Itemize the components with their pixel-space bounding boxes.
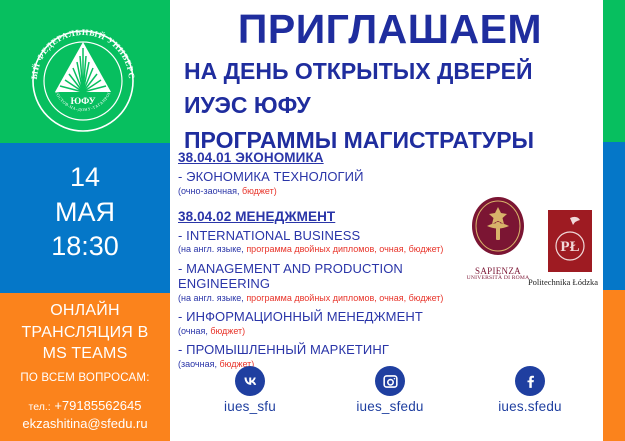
program-note-format: (на англ. языке,: [178, 244, 246, 254]
program-title: - ПРОМЫШЛЕННЫЙ МАРКЕТИНГ: [178, 342, 478, 358]
headline-line2: НА ДЕНЬ ОТКРЫТЫХ ДВЕРЕЙ: [178, 58, 598, 85]
program-note: (на англ. языке, программа двойных дипло…: [178, 244, 478, 255]
poster-canvas: ЮФУ ЮЖНЫЙ ФЕДЕРАЛЬНЫЙ УНИВЕРСИТЕТ РОСТОВ…: [0, 0, 625, 441]
program-note-funding: бюджет): [210, 326, 245, 336]
programs-list: 38.04.01 ЭКОНОМИКА- ЭКОНОМИКА ТЕХНОЛОГИЙ…: [178, 150, 478, 375]
broadcast-block: ОНЛАЙН ТРАНСЛЯЦИЯ В MS TEAMS: [0, 300, 170, 365]
social-handle: iues_sfu: [195, 399, 305, 414]
program-note-format: (очная,: [178, 326, 210, 336]
sapienza-logo: SAPIENZA UNIVERSITÀ DI ROMA: [462, 196, 534, 282]
program-code: 38.04.02 МЕНЕДЖМЕНТ: [178, 209, 478, 224]
lodz-logo: PŁ Politechnika Łódzka: [538, 210, 602, 287]
broadcast-line1: ОНЛАЙН: [0, 300, 170, 322]
program-note-format: (на англ. языке,: [178, 293, 246, 303]
phone-number[interactable]: +79185562645: [54, 398, 141, 413]
lodz-label: Politechnika Łódzka: [524, 277, 602, 287]
broadcast-line2: ТРАНСЛЯЦИЯ В: [0, 322, 170, 344]
social-item[interactable]: iues_sfedu: [335, 366, 445, 414]
partner-logos: SAPIENZA UNIVERSITÀ DI ROMA PŁ Politechn…: [462, 196, 602, 306]
social-item[interactable]: iues.sfedu: [475, 366, 585, 414]
program-note-funding: программа двойных дипломов, очная, бюдже…: [246, 293, 443, 303]
program-code: 38.04.01 ЭКОНОМИКА: [178, 150, 478, 165]
program-note-format: (очно-заочная,: [178, 186, 242, 196]
contact-phone-row: тел.: +79185562645: [0, 397, 170, 415]
sfu-seal-logo: ЮФУ ЮЖНЫЙ ФЕДЕРАЛЬНЫЙ УНИВЕРСИТЕТ РОСТОВ…: [24, 22, 142, 140]
programs-gap: [178, 202, 478, 209]
headline-line1: ПРИГЛАШАЕМ: [178, 8, 598, 51]
instagram-icon[interactable]: [375, 366, 405, 396]
program-note: (очная, бюджет): [178, 326, 478, 337]
headline-group: ПРИГЛАШАЕМ НА ДЕНЬ ОТКРЫТЫХ ДВЕРЕЙ ИУЭС …: [178, 8, 598, 154]
broadcast-line3: MS TEAMS: [0, 343, 170, 365]
program-note: (на англ. языке, программа двойных дипло…: [178, 293, 478, 304]
social-handle: iues.sfedu: [475, 399, 585, 414]
event-day: 14: [0, 160, 170, 195]
contact-details: тел.: +79185562645 ekzashitina@sfedu.ru: [0, 397, 170, 432]
event-date-block: 14 МАЯ 18:30: [0, 160, 170, 264]
svg-text:PŁ: PŁ: [560, 239, 579, 255]
social-links: iues_sfuiues_sfeduiues.sfedu: [180, 366, 600, 414]
phone-label: тел.:: [29, 401, 51, 413]
social-handle: iues_sfedu: [335, 399, 445, 414]
social-item[interactable]: iues_sfu: [195, 366, 305, 414]
event-month: МАЯ: [0, 195, 170, 230]
facebook-icon[interactable]: [515, 366, 545, 396]
program-note: (очно-заочная, бюджет): [178, 186, 478, 197]
vk-icon[interactable]: [235, 366, 265, 396]
right-band-blue: [603, 142, 625, 290]
program-title: - ЭКОНОМИКА ТЕХНОЛОГИЙ: [178, 169, 478, 185]
program-title: - MANAGEMENT AND PRODUCTION ENGINEERING: [178, 261, 478, 292]
contact-heading: ПО ВСЕМ ВОПРОСАМ:: [0, 372, 170, 384]
program-note-funding: программа двойных дипломов, очная, бюдже…: [246, 244, 443, 254]
program-title: - ИНФОРМАЦИОННЫЙ МЕНЕДЖМЕНТ: [178, 309, 478, 325]
contact-email[interactable]: ekzashitina@sfedu.ru: [0, 415, 170, 433]
right-band-green: [603, 0, 625, 142]
program-title: - INTERNATIONAL BUSINESS: [178, 228, 478, 244]
program-note-funding: бюджет): [242, 186, 277, 196]
headline-line3: ИУЭС ЮФУ: [178, 92, 598, 119]
lodz-shield-icon: PŁ: [548, 210, 592, 272]
right-band-orange: [603, 290, 625, 441]
event-time: 18:30: [0, 229, 170, 264]
